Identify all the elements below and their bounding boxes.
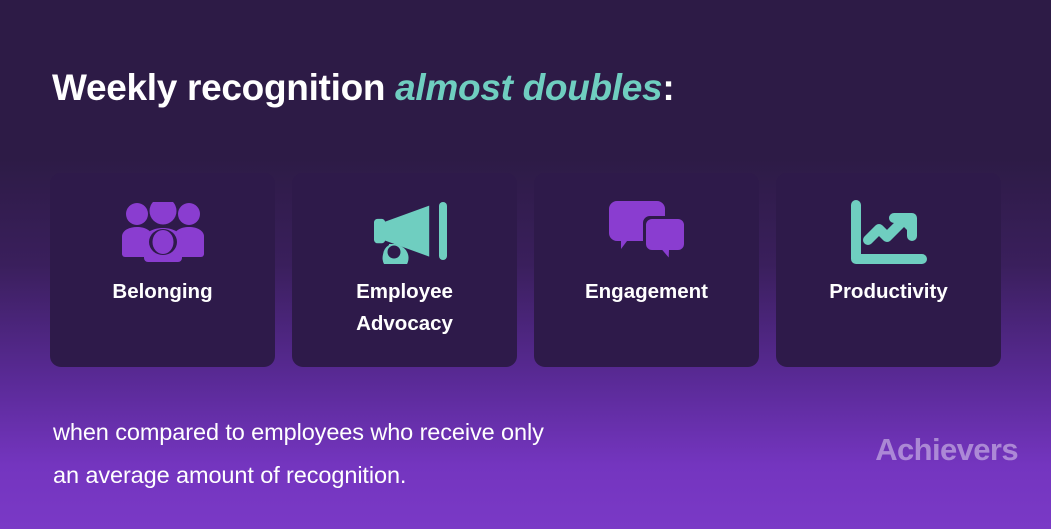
headline-lead: Weekly recognition [52, 67, 395, 108]
headline-accent: almost doubles [395, 67, 662, 108]
card-label-productivity: Productivity [776, 276, 1001, 308]
caption-line-2: an average amount of recognition. [53, 454, 753, 497]
card-label-belonging: Belonging [50, 276, 275, 308]
card-belonging: Belonging [50, 173, 275, 367]
card-label-line-1: Employee [300, 276, 509, 308]
card-label-engagement: Engagement [534, 276, 759, 308]
benefit-card-row: Belonging Employee Advocacy [50, 173, 1001, 367]
infographic-canvas: Weekly recognition almost doubles: [0, 0, 1051, 529]
card-employee-advocacy: Employee Advocacy [292, 173, 517, 367]
card-label-line-2: Advocacy [300, 308, 509, 340]
card-engagement: Engagement [534, 173, 759, 367]
headline-colon: : [662, 67, 674, 108]
megaphone-icon [360, 185, 450, 281]
caption-text: when compared to employees who receive o… [53, 411, 753, 497]
card-productivity: Productivity [776, 173, 1001, 367]
speech-bubbles-icon [605, 185, 689, 281]
caption-line-1: when compared to employees who receive o… [53, 411, 753, 454]
people-group-icon [120, 185, 206, 281]
achievers-logo: Achievers [875, 432, 1018, 468]
page-title: Weekly recognition almost doubles: [52, 67, 674, 109]
growth-chart-icon [850, 185, 928, 281]
card-label-employee-advocacy: Employee Advocacy [292, 276, 517, 340]
